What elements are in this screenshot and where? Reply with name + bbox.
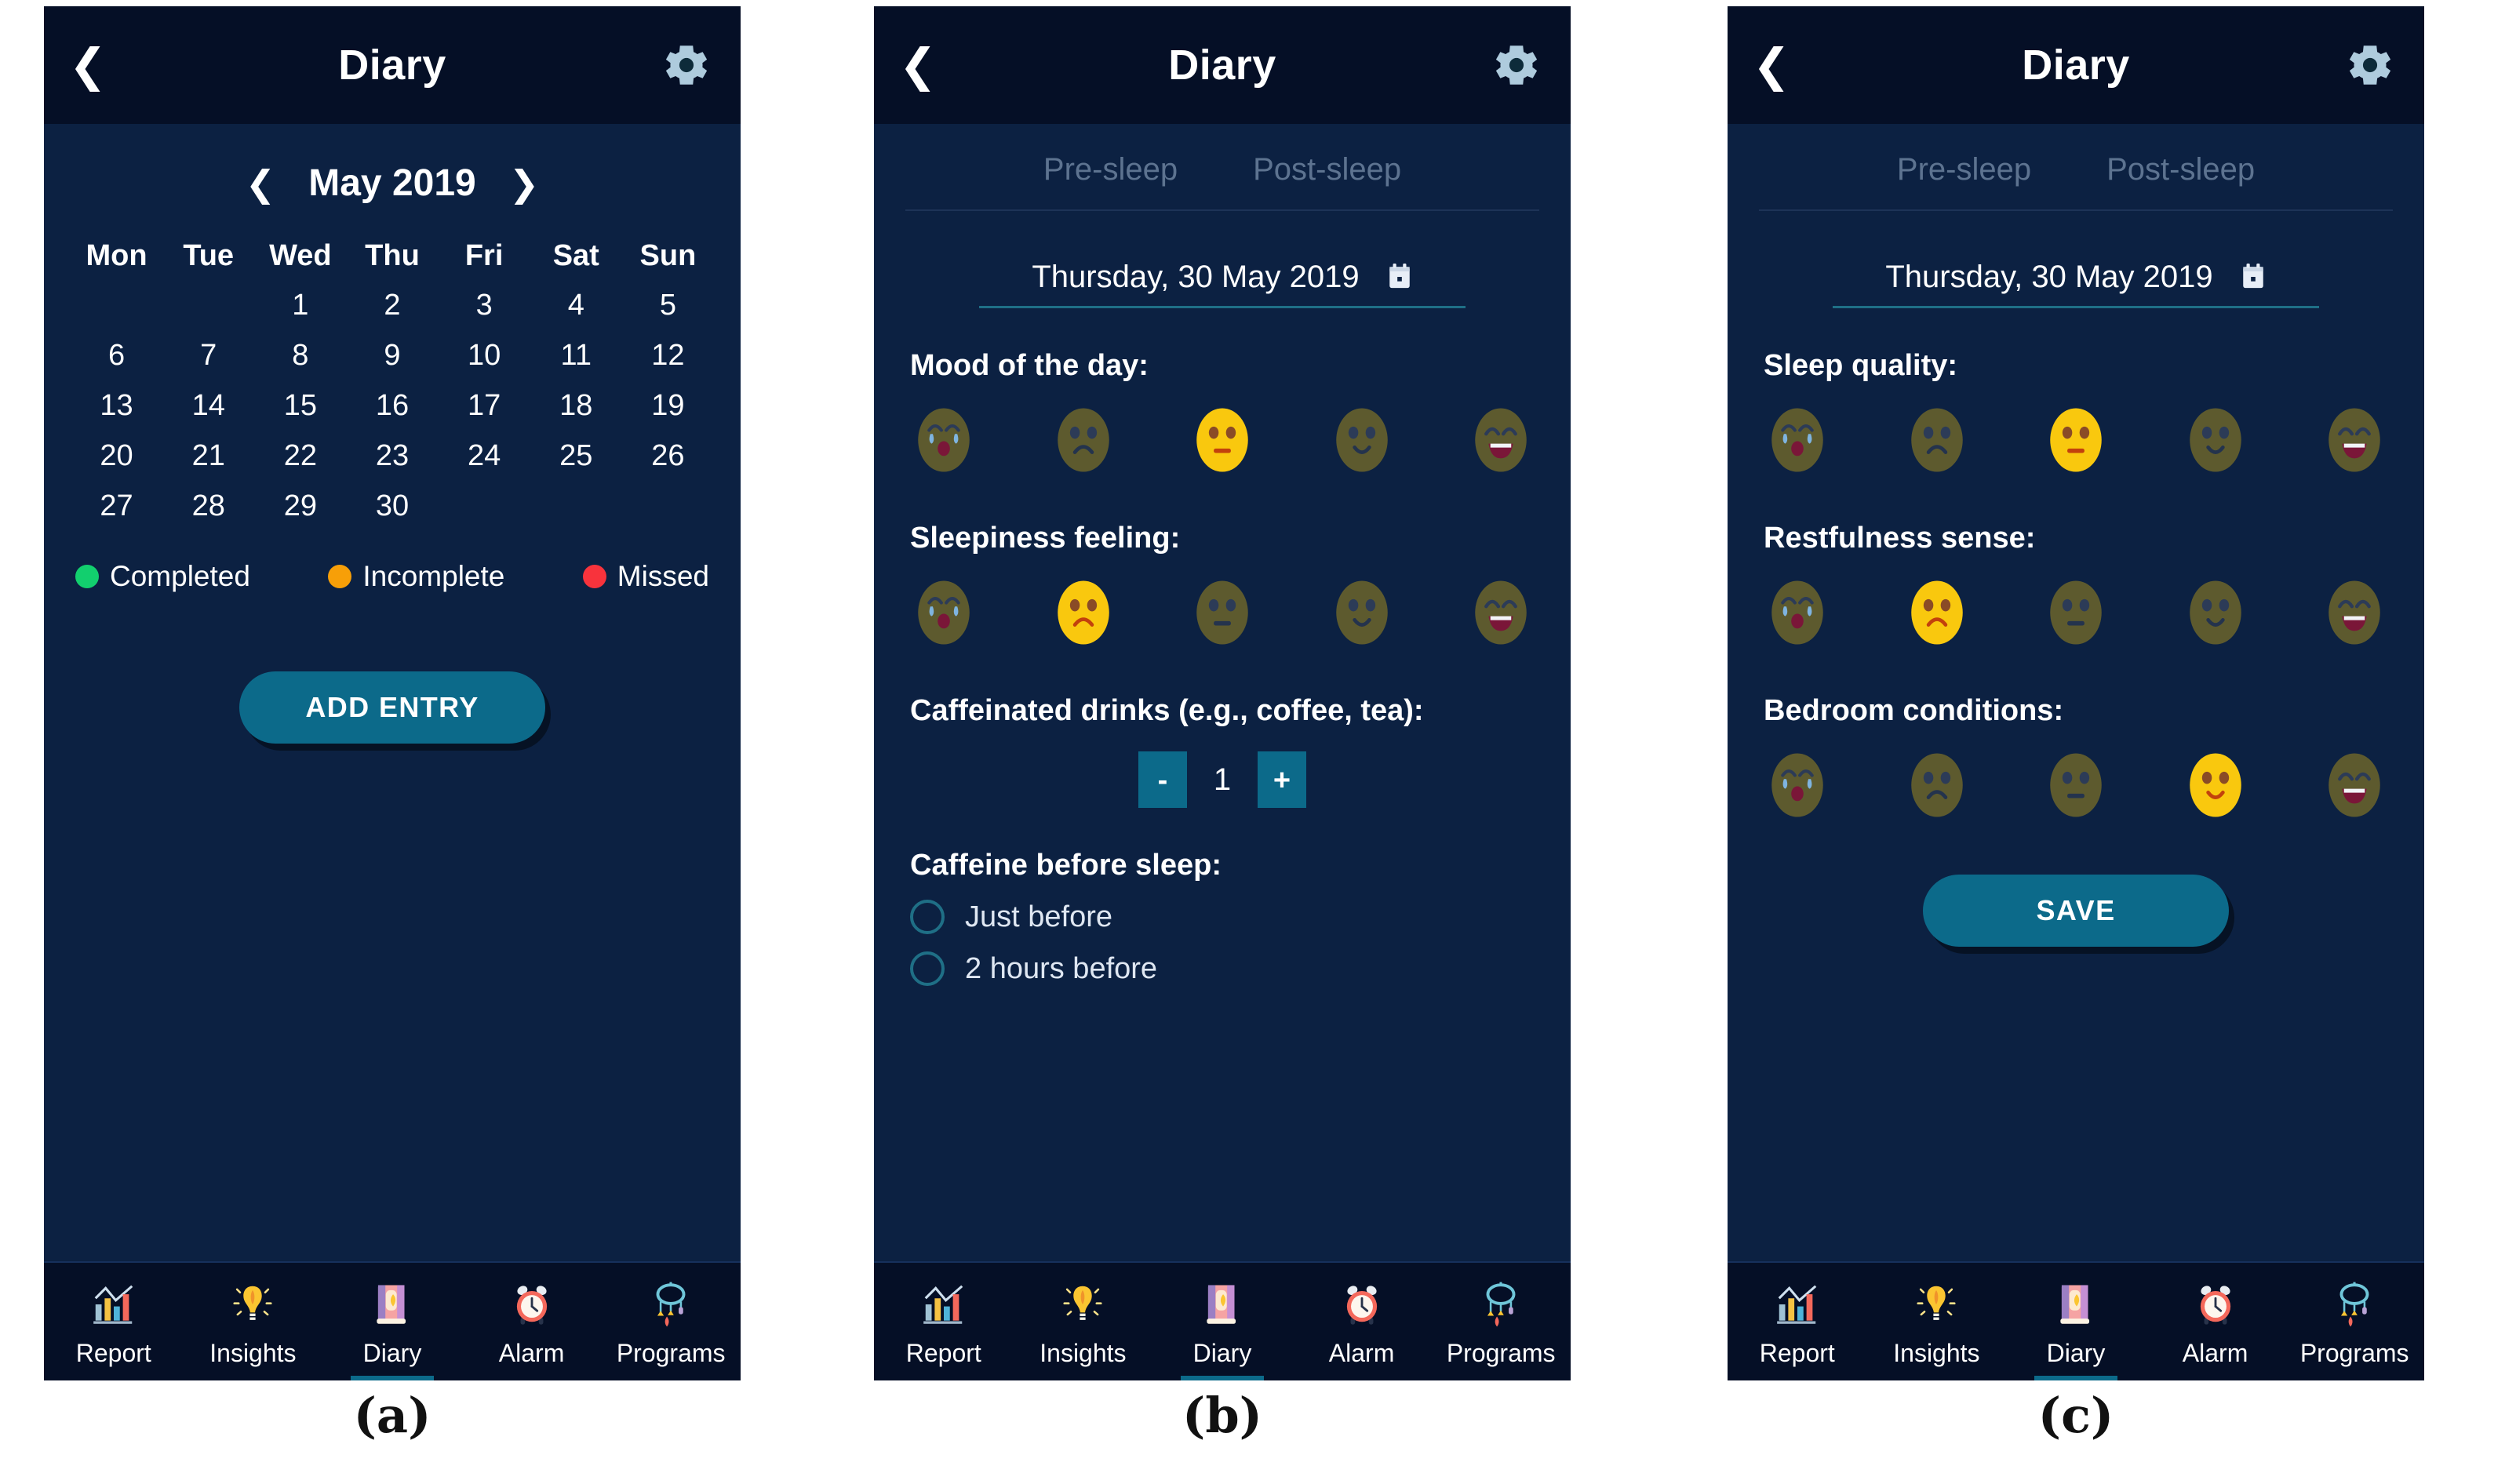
calendar-day-cell[interactable]: 17 — [439, 391, 530, 424]
next-month-icon[interactable]: ❯ — [509, 165, 540, 202]
calendar-day-cell[interactable]: 18 — [530, 391, 622, 424]
emoji-option-smile[interactable] — [2185, 403, 2246, 481]
calendar-week-row: 27282930 — [71, 491, 714, 524]
calendar-day-cell[interactable]: 29 — [254, 491, 346, 524]
app-header: ❮ Diary — [44, 6, 741, 124]
calendar-day-number: 3 — [439, 290, 530, 323]
bar-chart-icon — [919, 1280, 968, 1333]
date-value: Thursday, 30 May 2019 — [1032, 260, 1359, 295]
calendar-day-cell[interactable]: 1 — [254, 290, 346, 323]
nav-item-diary[interactable]: Diary — [2009, 1275, 2143, 1368]
radio-circle-icon[interactable] — [910, 951, 945, 986]
calendar-day-number: 9 — [346, 340, 438, 373]
calendar-day-cell[interactable]: 23 — [346, 441, 438, 474]
lightbulb-icon — [1912, 1280, 1961, 1333]
calendar-day-number: 22 — [254, 441, 346, 474]
radio-option-2-hours-before[interactable]: 2 hours before — [910, 951, 1535, 986]
alarm-clock-icon — [2191, 1280, 2240, 1333]
calendar-day-number: 7 — [162, 340, 254, 373]
calendar-day-number: 12 — [622, 340, 714, 373]
nav-label: Report — [906, 1339, 981, 1368]
nav-item-programs[interactable]: Programs — [2288, 1275, 2421, 1368]
calendar-day-number: 16 — [346, 391, 438, 424]
calendar-day-number — [162, 290, 254, 323]
nav-label: Programs — [2300, 1339, 2409, 1368]
calendar-day-number: 21 — [162, 441, 254, 474]
month-navigator: ❮ May 2019 ❯ — [71, 124, 714, 205]
calendar-day-number: 4 — [530, 290, 622, 323]
radio-option-just-before[interactable]: Just before — [910, 900, 1535, 934]
calendar-day-cell[interactable]: 19 — [622, 391, 714, 424]
tab-pre-sleep[interactable]: Pre-sleep — [1043, 152, 1178, 187]
emoji-option-sad[interactable] — [1053, 403, 1114, 481]
save-container: SAVE — [1764, 875, 2388, 947]
question-label-mood: Mood of the day: — [910, 349, 1535, 383]
calendar-day-number: 29 — [254, 491, 346, 524]
calendar-day-cell[interactable]: 16 — [346, 391, 438, 424]
dreamcatcher-icon — [646, 1280, 695, 1333]
prev-month-icon[interactable]: ❮ — [246, 165, 276, 202]
calendar-day-empty — [530, 491, 622, 524]
chevron-left-icon[interactable]: ❮ — [72, 43, 104, 87]
nav-active-indicator — [1181, 1376, 1264, 1380]
emoji-option-neutral-selected[interactable] — [2045, 403, 2106, 481]
tab-post-sleep[interactable]: Post-sleep — [2106, 152, 2255, 187]
calendar-day-cell[interactable]: 28 — [162, 491, 254, 524]
panel-diary-calendar: ❮ Diary ❮ May 2019 ❯ Mon Tue Wed Thu Fri… — [44, 6, 741, 1380]
calendar-day-number — [71, 290, 162, 323]
dow-label: Thu — [346, 239, 438, 273]
calendar-day-number: 15 — [254, 391, 346, 424]
gear-icon[interactable] — [1491, 39, 1542, 91]
add-entry-button[interactable]: ADD ENTRY — [239, 671, 545, 744]
nav-label: Programs — [617, 1339, 726, 1368]
calendar-day-number: 26 — [622, 441, 714, 474]
nav-item-report[interactable]: Report — [47, 1275, 180, 1368]
nav-label: Programs — [1447, 1339, 1556, 1368]
calendar-day-empty — [622, 491, 714, 524]
calendar-day-empty — [162, 290, 254, 323]
caffeine-quantity-stepper: - 1 + — [910, 751, 1535, 808]
bar-chart-icon — [1773, 1280, 1822, 1333]
emoji-option-smile-selected[interactable] — [2185, 748, 2246, 826]
emoji-option-laugh[interactable] — [1470, 576, 1531, 653]
calendar-day-cell[interactable]: 14 — [162, 391, 254, 424]
emoji-option-crying[interactable] — [913, 576, 974, 653]
month-label: May 2019 — [308, 162, 476, 205]
calendar-day-number: 19 — [622, 391, 714, 424]
nav-item-diary[interactable]: Diary — [1156, 1275, 1289, 1368]
emoji-option-neutral[interactable] — [1192, 576, 1253, 653]
nav-item-programs[interactable]: Programs — [1434, 1275, 1567, 1368]
nav-item-alarm[interactable]: Alarm — [465, 1275, 599, 1368]
emoji-option-crying[interactable] — [913, 403, 974, 481]
panel-diary-postsleep-form: ❮ Diary Pre-sleep Post-sleep Thursday, 3… — [1728, 6, 2424, 1380]
page-title: Diary — [1728, 41, 2424, 89]
figure-root: ❮ Diary ❮ May 2019 ❯ Mon Tue Wed Thu Fri… — [0, 0, 2516, 1484]
nav-item-alarm[interactable]: Alarm — [1295, 1275, 1429, 1368]
legend-item: Missed — [583, 560, 709, 593]
legend-dot-missed — [583, 565, 606, 588]
calendar-day-number: 27 — [71, 491, 162, 524]
gear-icon[interactable] — [661, 39, 712, 91]
emoji-option-laugh[interactable] — [2324, 403, 2385, 481]
bottom-navigation: Report Insights Diary Alarm — [874, 1261, 1571, 1380]
nav-label: Diary — [1193, 1339, 1252, 1368]
page-title: Diary — [874, 41, 1571, 89]
calendar-grid: 1234567891011121314151617181920212223242… — [71, 290, 714, 524]
calendar-day-number: 25 — [530, 441, 622, 474]
nav-active-indicator — [2034, 1376, 2117, 1380]
calendar-day-cell[interactable]: 6 — [71, 340, 162, 373]
emoji-scale-sleep-quality — [1764, 403, 2388, 481]
subfigure-caption-b: (b) — [874, 1387, 1571, 1444]
calendar-day-cell[interactable]: 13 — [71, 391, 162, 424]
add-entry-container: ADD ENTRY — [71, 671, 714, 744]
nav-item-alarm[interactable]: Alarm — [2149, 1275, 2282, 1368]
calendar-day-cell[interactable]: 21 — [162, 441, 254, 474]
calendar-day-number: 28 — [162, 491, 254, 524]
emoji-option-laugh[interactable] — [2324, 576, 2385, 653]
calendar-day-cell[interactable]: 11 — [530, 340, 622, 373]
emoji-option-smile[interactable] — [1331, 403, 1393, 481]
question-label-sleep-quality: Sleep quality: — [1764, 349, 2388, 383]
save-button[interactable]: SAVE — [1923, 875, 2229, 947]
day-of-week-header: Mon Tue Wed Thu Fri Sat Sun — [71, 239, 714, 273]
calendar-day-empty — [71, 290, 162, 323]
emoji-option-crying[interactable] — [1767, 576, 1828, 653]
bottom-navigation: Report Insights Diary Alarm — [1728, 1261, 2424, 1380]
nav-item-insights[interactable]: Insights — [186, 1275, 319, 1368]
emoji-scale-mood — [910, 403, 1535, 481]
calendar-day-cell[interactable]: 8 — [254, 340, 346, 373]
tab-divider — [1759, 209, 2393, 211]
bar-chart-icon — [89, 1280, 138, 1333]
nav-item-report[interactable]: Report — [1731, 1275, 1864, 1368]
nav-item-report[interactable]: Report — [877, 1275, 1010, 1368]
app-header: ❮ Diary — [874, 6, 1571, 124]
nav-active-indicator — [351, 1376, 434, 1380]
calendar-day-cell[interactable]: 27 — [71, 491, 162, 524]
presleep-form: Mood of the day: — [874, 349, 1571, 986]
emoji-option-neutral-selected[interactable] — [1192, 403, 1253, 481]
dow-label: Tue — [162, 239, 254, 273]
chevron-left-icon[interactable]: ❮ — [902, 43, 934, 87]
dreamcatcher-icon — [2330, 1280, 2379, 1333]
caffeine-count-value: 1 — [1209, 762, 1236, 798]
calendar-day-cell[interactable]: 4 — [530, 290, 622, 323]
emoji-scale-sleepiness — [910, 576, 1535, 653]
question-label-restfulness: Restfulness sense: — [1764, 522, 2388, 555]
book-icon — [1198, 1280, 1247, 1333]
calendar-day-number — [530, 491, 622, 524]
postsleep-form: Sleep quality: — [1728, 349, 2424, 947]
date-selector[interactable]: Thursday, 30 May 2019 — [979, 260, 1466, 308]
nav-item-programs[interactable]: Programs — [604, 1275, 737, 1368]
emoji-option-smile[interactable] — [2185, 576, 2246, 653]
calendar-day-number: 24 — [439, 441, 530, 474]
calendar-day-cell[interactable]: 20 — [71, 441, 162, 474]
calendar-week-row: 6789101112 — [71, 340, 714, 373]
dow-label: Sun — [622, 239, 714, 273]
legend-item: Completed — [75, 560, 250, 593]
calendar-day-cell[interactable]: 2 — [346, 290, 438, 323]
calendar-day-number: 13 — [71, 391, 162, 424]
calendar-day-number: 17 — [439, 391, 530, 424]
tab-pre-sleep[interactable]: Pre-sleep — [1897, 152, 2031, 187]
lightbulb-icon — [228, 1280, 277, 1333]
calendar-day-number: 1 — [254, 290, 346, 323]
nav-item-insights[interactable]: Insights — [1016, 1275, 1149, 1368]
nav-label: Insights — [1893, 1339, 1979, 1368]
legend-item: Incomplete — [328, 560, 504, 593]
lightbulb-icon — [1058, 1280, 1107, 1333]
alarm-clock-icon — [1338, 1280, 1386, 1333]
nav-label: Alarm — [2183, 1339, 2248, 1368]
emoji-option-laugh[interactable] — [2324, 748, 2385, 826]
calendar-day-number: 20 — [71, 441, 162, 474]
sleep-phase-tabs: Pre-sleep Post-sleep — [1728, 124, 2424, 187]
nav-item-diary[interactable]: Diary — [326, 1275, 459, 1368]
emoji-option-crying[interactable] — [1767, 748, 1828, 826]
calendar-day-number: 6 — [71, 340, 162, 373]
alarm-clock-icon — [508, 1280, 556, 1333]
date-selector[interactable]: Thursday, 30 May 2019 — [1833, 260, 2319, 308]
calendar-day-number: 10 — [439, 340, 530, 373]
book-icon — [2052, 1280, 2100, 1333]
nav-label: Insights — [1040, 1339, 1126, 1368]
legend-dot-incomplete — [328, 565, 351, 588]
decrement-button[interactable]: - — [1138, 751, 1187, 808]
book-icon — [368, 1280, 417, 1333]
nav-label: Report — [1760, 1339, 1835, 1368]
calendar-day-number — [439, 491, 530, 524]
tab-post-sleep[interactable]: Post-sleep — [1253, 152, 1401, 187]
dow-label: Wed — [254, 239, 346, 273]
question-label-sleepiness: Sleepiness feeling: — [910, 522, 1535, 555]
calendar-day-number: 8 — [254, 340, 346, 373]
question-label-caffeinated-drinks: Caffeinated drinks (e.g., coffee, tea): — [910, 694, 1535, 728]
calendar-day-cell[interactable]: 24 — [439, 441, 530, 474]
emoji-option-smile[interactable] — [1331, 576, 1393, 653]
calendar-icon[interactable] — [2240, 262, 2267, 292]
legend-dot-completed — [75, 565, 99, 588]
calendar-day-empty — [439, 491, 530, 524]
calendar-day-number: 11 — [530, 340, 622, 373]
dow-label: Fri — [439, 239, 530, 273]
emoji-option-laugh[interactable] — [1470, 403, 1531, 481]
calendar-day-number: 14 — [162, 391, 254, 424]
emoji-scale-restfulness — [1764, 576, 2388, 653]
subfigure-caption-c: (c) — [1728, 1387, 2424, 1444]
calendar-day-cell[interactable]: 7 — [162, 340, 254, 373]
calendar-day-number — [622, 491, 714, 524]
gear-icon[interactable] — [2344, 39, 2396, 91]
nav-item-insights[interactable]: Insights — [1870, 1275, 2003, 1368]
calendar-day-cell[interactable]: 25 — [530, 441, 622, 474]
date-value: Thursday, 30 May 2019 — [1885, 260, 2212, 295]
nav-label: Alarm — [1329, 1339, 1395, 1368]
legend-label: Completed — [110, 560, 250, 593]
calendar-legend: Completed Incomplete Missed — [71, 560, 714, 593]
calendar-day-number: 23 — [346, 441, 438, 474]
emoji-option-sad-selected[interactable] — [1906, 576, 1968, 653]
radio-circle-icon[interactable] — [910, 900, 945, 934]
question-label-bedroom-conditions: Bedroom conditions: — [1764, 694, 2388, 728]
emoji-option-crying[interactable] — [1767, 403, 1828, 481]
calendar-week-row: 12345 — [71, 290, 714, 323]
bottom-navigation: Report Insights Diary Alarm — [44, 1261, 741, 1380]
calendar-day-number: 18 — [530, 391, 622, 424]
calendar-day-number: 2 — [346, 290, 438, 323]
dow-label: Mon — [71, 239, 162, 273]
tab-divider — [905, 209, 1539, 211]
calendar-day-number: 5 — [622, 290, 714, 323]
chevron-left-icon[interactable]: ❮ — [1756, 43, 1787, 87]
emoji-option-sad[interactable] — [1906, 748, 1968, 826]
sleep-phase-tabs: Pre-sleep Post-sleep — [874, 124, 1571, 187]
radio-label: 2 hours before — [965, 952, 1157, 986]
dow-label: Sat — [530, 239, 622, 273]
legend-label: Incomplete — [362, 560, 504, 593]
emoji-option-neutral[interactable] — [2045, 748, 2106, 826]
calendar-day-cell[interactable]: 30 — [346, 491, 438, 524]
nav-label: Report — [76, 1339, 151, 1368]
calendar-day-cell[interactable]: 5 — [622, 290, 714, 323]
calendar-day-cell[interactable]: 12 — [622, 340, 714, 373]
calendar-day-cell[interactable]: 15 — [254, 391, 346, 424]
page-title: Diary — [44, 41, 741, 89]
nav-label: Diary — [363, 1339, 422, 1368]
nav-label: Insights — [209, 1339, 296, 1368]
calendar-week-row: 13141516171819 — [71, 391, 714, 424]
radio-label: Just before — [965, 900, 1112, 934]
legend-label: Missed — [617, 560, 709, 593]
emoji-option-neutral[interactable] — [2045, 576, 2106, 653]
emoji-scale-bedroom-conditions — [1764, 748, 2388, 826]
calendar-day-cell[interactable]: 9 — [346, 340, 438, 373]
emoji-option-sad[interactable] — [1906, 403, 1968, 481]
calendar-day-cell[interactable]: 26 — [622, 441, 714, 474]
panel-diary-presleep-form: ❮ Diary Pre-sleep Post-sleep Thursday, 3… — [874, 6, 1571, 1380]
increment-button[interactable]: + — [1258, 751, 1306, 808]
app-header: ❮ Diary — [1728, 6, 2424, 124]
calendar-day-number: 30 — [346, 491, 438, 524]
calendar-week-row: 20212223242526 — [71, 441, 714, 474]
subfigure-caption-a: (a) — [44, 1387, 741, 1444]
nav-label: Alarm — [499, 1339, 565, 1368]
calendar-day-cell[interactable]: 10 — [439, 340, 530, 373]
question-label-caffeine-before-sleep: Caffeine before sleep: — [910, 849, 1535, 882]
calendar-day-cell[interactable]: 22 — [254, 441, 346, 474]
calendar-day-cell[interactable]: 3 — [439, 290, 530, 323]
calendar-icon[interactable] — [1386, 262, 1413, 292]
nav-label: Diary — [2047, 1339, 2106, 1368]
emoji-option-sad-selected[interactable] — [1053, 576, 1114, 653]
dreamcatcher-icon — [1476, 1280, 1525, 1333]
calendar-body: ❮ May 2019 ❯ Mon Tue Wed Thu Fri Sat Sun… — [44, 124, 741, 744]
